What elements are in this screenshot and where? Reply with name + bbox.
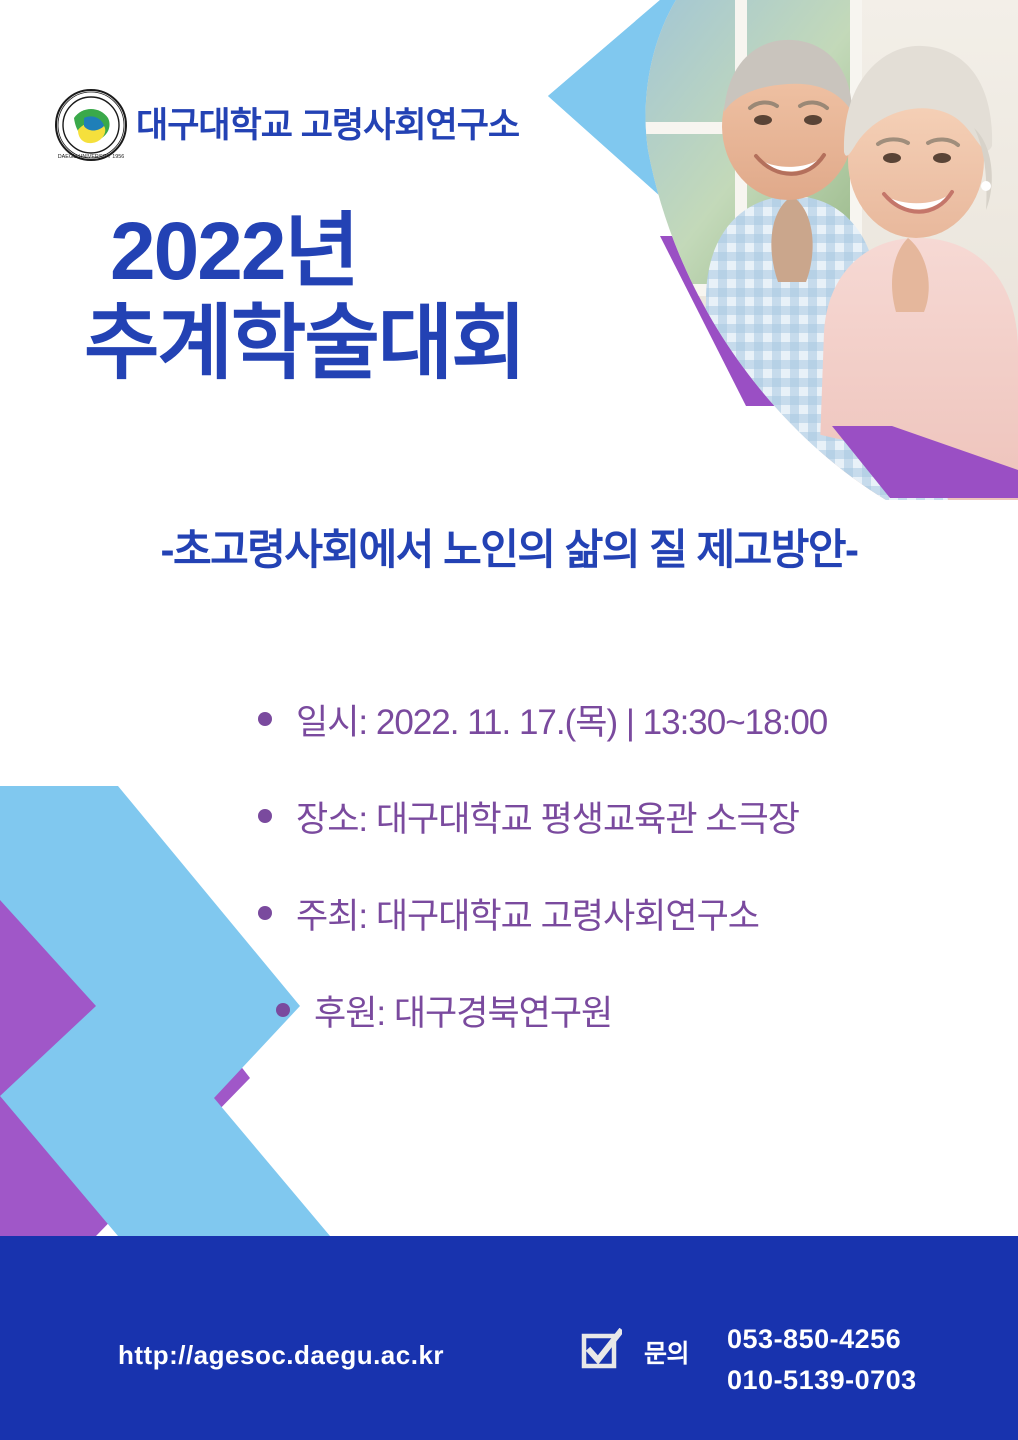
contact-label: 문의: [644, 1334, 689, 1370]
footer-bar: http://agesoc.daegu.ac.kr 문의 053-850-425…: [0, 1236, 1018, 1440]
subtitle: -초고령사회에서 노인의 삶의 질 제고방안-: [0, 516, 1018, 577]
phone-number-list: 053-850-4256 010-5139-0703: [727, 1324, 917, 1396]
header: DAEGU UNIVERSITY 1956 대구대학교 고령사회연구소: [54, 88, 519, 162]
phone-number: 053-850-4256: [727, 1324, 917, 1355]
contact-block: 문의 053-850-4256 010-5139-0703: [578, 1324, 917, 1396]
list-item-text: 주최: 대구대학교 고령사회연구소: [296, 888, 759, 939]
checkbox-checked-icon: [578, 1328, 622, 1372]
poster-root: DAEGU UNIVERSITY 1956 대구대학교 고령사회연구소 2022…: [0, 0, 1018, 1440]
website-url-link[interactable]: http://agesoc.daegu.ac.kr: [118, 1340, 444, 1371]
list-item-text: 후원: 대구경북연구원: [314, 985, 612, 1036]
bullet-dot-icon: [276, 1003, 290, 1017]
bullet-dot-icon: [258, 712, 272, 726]
bullet-dot-icon: [258, 809, 272, 823]
title-line-1: 2022년: [110, 206, 670, 298]
list-item: 일시: 2022. 11. 17.(목) | 13:30~18:00: [258, 694, 958, 745]
list-item: 주최: 대구대학교 고령사회연구소: [258, 888, 958, 939]
event-info-list: 일시: 2022. 11. 17.(목) | 13:30~18:00 장소: 대…: [258, 694, 958, 1036]
bullet-dot-icon: [258, 906, 272, 920]
phone-number: 010-5139-0703: [727, 1365, 917, 1396]
page-title: 2022년 추계학술대회: [110, 206, 670, 390]
daegu-university-emblem-icon: DAEGU UNIVERSITY 1956: [54, 88, 128, 162]
bottom-purple-chevron-shape: [0, 880, 250, 1236]
list-item: 장소: 대구대학교 평생교육관 소극장: [258, 791, 958, 842]
title-line-2: 추계학술대회: [84, 298, 670, 390]
list-item-text: 일시: 2022. 11. 17.(목) | 13:30~18:00: [296, 694, 827, 745]
organization-name: 대구대학교 고령사회연구소: [136, 108, 519, 143]
list-item: 후원: 대구경북연구원: [258, 985, 958, 1036]
list-item-text: 장소: 대구대학교 평생교육관 소극장: [296, 791, 799, 842]
svg-text:DAEGU UNIVERSITY 1956: DAEGU UNIVERSITY 1956: [58, 154, 124, 160]
